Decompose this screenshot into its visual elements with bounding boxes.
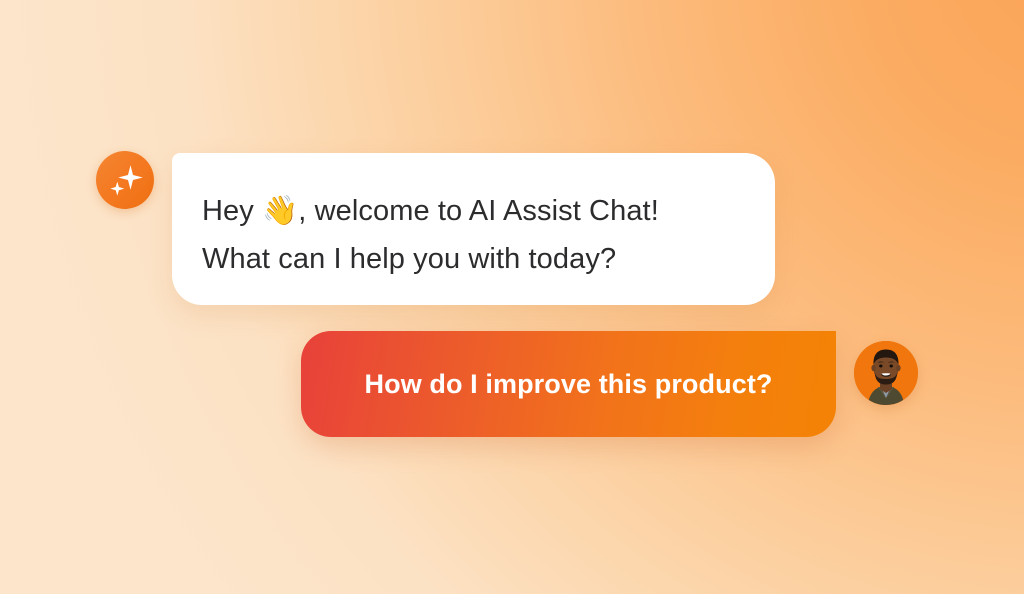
- user-photo-avatar-icon: [854, 341, 918, 405]
- assistant-message-line-2: What can I help you with today?: [202, 235, 745, 283]
- chat-scene: Hey 👋, welcome to AI Assist Chat! What c…: [0, 0, 1024, 594]
- user-message-bubble: How do I improve this product?: [301, 331, 836, 437]
- user-message-text: How do I improve this product?: [365, 367, 773, 401]
- user-avatar[interactable]: [854, 341, 918, 405]
- assistant-message-bubble: Hey 👋, welcome to AI Assist Chat! What c…: [172, 153, 775, 305]
- waving-hand-icon: 👋: [262, 193, 298, 227]
- assistant-greeting-prefix: Hey: [202, 195, 262, 227]
- sparkle-icon: [96, 151, 154, 209]
- assistant-greeting-suffix: , welcome to AI Assist Chat!: [298, 195, 659, 227]
- assistant-message-line-1: Hey 👋, welcome to AI Assist Chat!: [202, 186, 745, 235]
- assistant-avatar[interactable]: [96, 151, 154, 209]
